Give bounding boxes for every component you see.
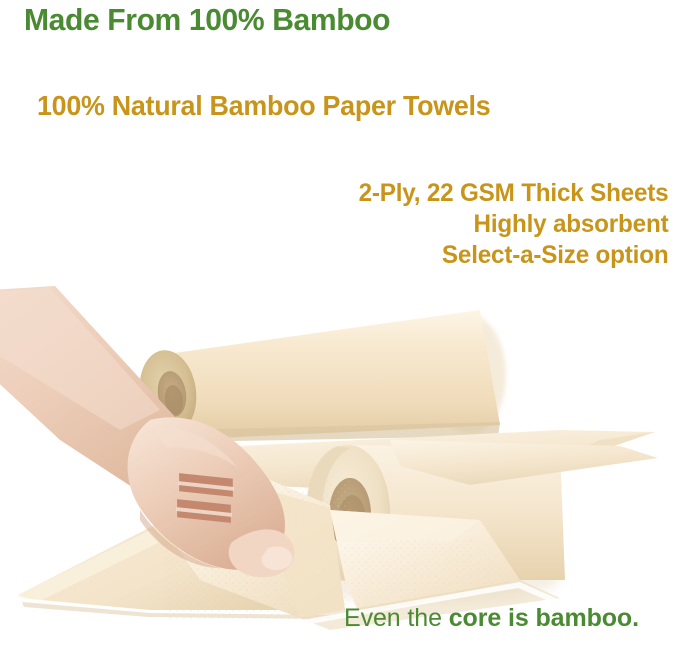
core-caption-bold: core is bamboo. [449,604,639,632]
feature-list: 2-Ply, 22 GSM Thick Sheets Highly absorb… [349,178,668,271]
product-photo-illustration [0,280,679,646]
product-subtitle: 100% Natural Bamboo Paper Towels [37,90,490,122]
core-caption: Even the core is bamboo. [344,604,639,633]
feature-item-absorbent: Highly absorbent [358,209,668,240]
product-photo [0,280,679,646]
feature-item-select-a-size: Select-a-Size option [358,240,668,271]
product-infographic: Made From 100% Bamboo 100% Natural Bambo… [0,0,679,646]
feature-item-ply-gsm: 2-Ply, 22 GSM Thick Sheets [358,178,668,209]
page-title: Made From 100% Bamboo [24,2,390,38]
core-caption-regular: Even the [344,604,449,632]
